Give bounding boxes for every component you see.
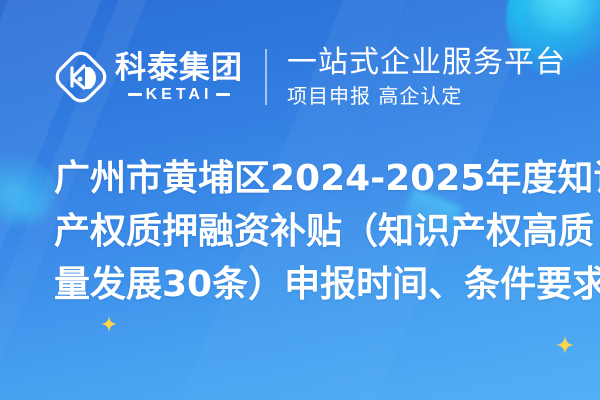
headline-line-1: 广州市黄埔区2024-2025年度知识 — [54, 152, 546, 205]
headline-line-3: 量发展30条）申报时间、条件要求 — [54, 258, 546, 311]
sparkle-star-right — [556, 336, 574, 354]
dash-right-icon — [216, 93, 230, 96]
promo-banner: 科泰集团 KETAI 一站式企业服务平台 项目申报 高企认定 广州市黄埔区202… — [0, 0, 600, 400]
slogan-secondary: 项目申报 高企认定 — [287, 83, 566, 109]
brand-logo-text: 科泰集团 KETAI — [115, 52, 243, 103]
brand-name-en: KETAI — [146, 86, 213, 103]
headline-line-2: 产权质押融资补贴（知识产权高质 — [54, 205, 546, 258]
slogan-primary: 一站式企业服务平台 — [287, 45, 566, 81]
header-divider — [265, 49, 267, 105]
brand-name-en-row: KETAI — [128, 86, 231, 103]
brand-name-cn: 科泰集团 — [115, 52, 243, 84]
ketai-diamond-monogram-icon — [55, 51, 107, 103]
sparkle-star-left — [101, 316, 117, 332]
banner-header: 科泰集团 KETAI 一站式企业服务平台 项目申报 高企认定 — [0, 36, 600, 118]
dash-left-icon — [128, 93, 142, 96]
headline: 广州市黄埔区2024-2025年度知识 产权质押融资补贴（知识产权高质 量发展3… — [0, 152, 600, 311]
slogan-block: 一站式企业服务平台 项目申报 高企认定 — [287, 45, 566, 109]
brand-logo[interactable]: 科泰集团 KETAI — [55, 51, 243, 103]
